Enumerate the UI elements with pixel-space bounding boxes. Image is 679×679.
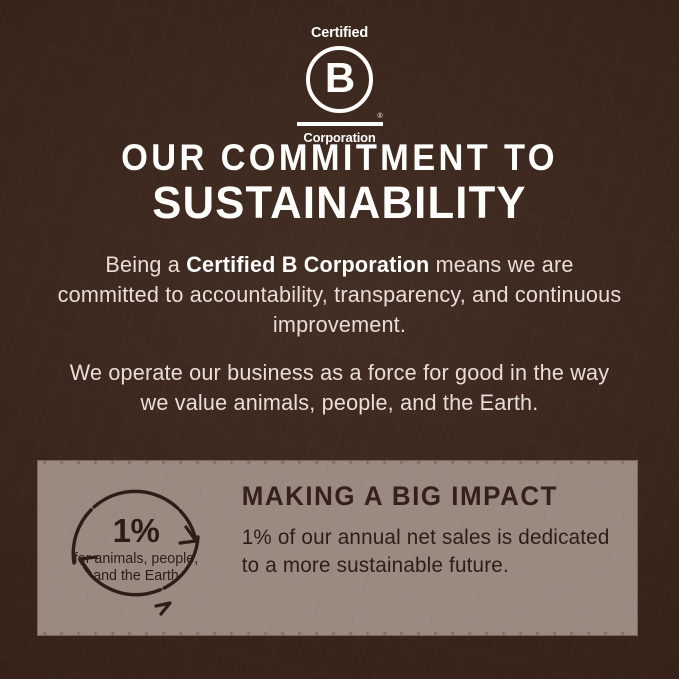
card-bottom-edge [38, 632, 637, 635]
body-paragraph-2: We operate our business as a force for g… [56, 358, 623, 418]
body-paragraph-1: Being a Certified B Corporation means we… [56, 250, 623, 340]
registered-trademark-icon: ® [377, 113, 382, 120]
b-corp-logo: Certified B ® Corporation [0, 26, 679, 144]
impact-card-title: MAKING A BIG IMPACT [242, 482, 614, 512]
b-corp-certified-label: Certified [311, 26, 368, 41]
one-percent-badge: 1% for animals, people, and the Earth [60, 475, 212, 623]
b-corp-circle-icon: B [306, 46, 373, 113]
b-corp-registered-mark-row: ® [297, 113, 383, 121]
headline-line-2: SUSTAINABILITY [10, 178, 669, 228]
impact-card-content: MAKING A BIG IMPACT 1% of our annual net… [234, 482, 621, 579]
impact-card: 1% for animals, people, and the Earth MA… [38, 461, 637, 635]
card-top-edge [38, 461, 637, 464]
badge-percent: 1% [113, 514, 160, 547]
impact-card-description: 1% of our annual net sales is dedicated … [242, 523, 614, 579]
page-title: OUR COMMITMENT TO SUSTAINABILITY [0, 138, 679, 228]
sustainability-poster: Certified B ® Corporation OUR COMMITMENT… [0, 0, 679, 679]
b-corp-divider-bar [297, 122, 383, 126]
badge-caption: for animals, people, and the Earth [64, 550, 208, 584]
certified-b-corporation-emphasis: Certified B Corporation [186, 252, 429, 277]
paragraph-1-lead: Being a [105, 252, 186, 277]
b-corp-letter: B [325, 57, 354, 99]
headline-line-1: OUR COMMITMENT TO [24, 138, 655, 178]
badge-text-group: 1% for animals, people, and the Earth [60, 475, 212, 623]
